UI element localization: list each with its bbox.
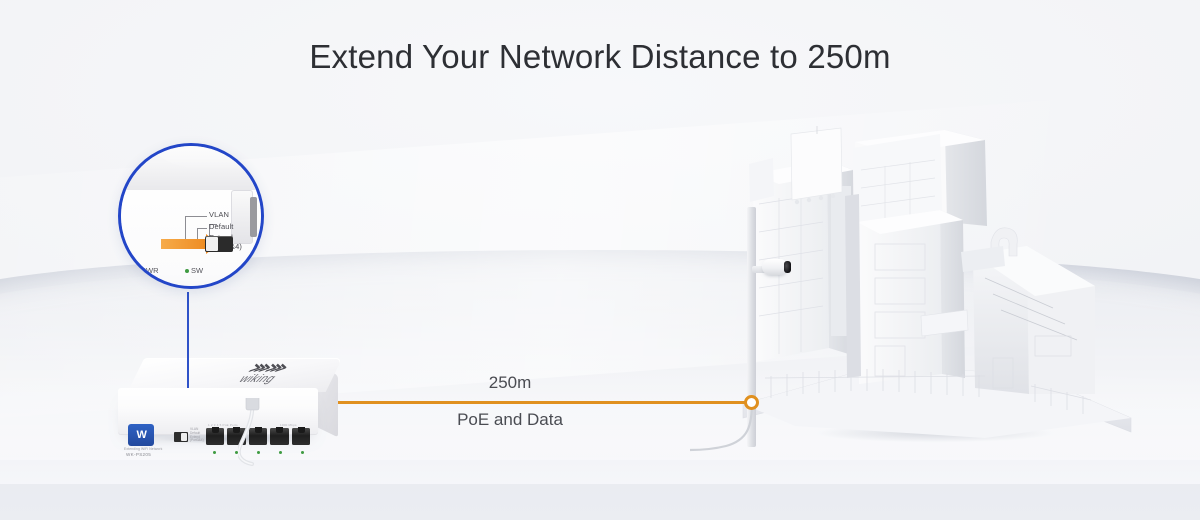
closeup-label-default: Default xyxy=(209,222,233,232)
brand-name-label: wiking xyxy=(214,373,302,385)
city-block-3d-render xyxy=(735,126,1135,456)
closeup-label-vlan: VLAN xyxy=(209,210,229,220)
badge-subtitle: Extending WiFi Network xyxy=(124,447,160,451)
device-top-panel: ⋙⋙ wiking xyxy=(128,358,343,392)
link-distance-label: 250m xyxy=(420,373,600,393)
pointer-arrow-icon xyxy=(161,239,207,249)
device-front-panel: W Extending WiFi Network WK-PS205 VLANDe… xyxy=(118,388,318,434)
port-led xyxy=(257,451,260,454)
led-label-pwr: PWR xyxy=(141,266,159,275)
led-dot-icon xyxy=(185,269,189,273)
vlan-dip-switch-closeup[interactable]: VLAN Default Extend (Port3&4) PWR SW xyxy=(118,143,264,289)
link-endpoint-camera xyxy=(744,395,759,410)
port-led xyxy=(279,451,282,454)
led-indicator-sw: SW xyxy=(185,266,203,275)
vlan-dip-switch-caption: VLANDefaultExtend(Port3&4) xyxy=(190,428,204,443)
brand-chevron-icon: ⋙⋙ xyxy=(225,362,312,373)
leader-line xyxy=(185,216,207,217)
closeup-port xyxy=(231,190,253,244)
illustration-canvas: Extend Your Network Distance to 250m xyxy=(0,0,1200,520)
rj45-port[interactable] xyxy=(292,428,310,445)
magnifier-connector-line xyxy=(187,292,189,388)
closeup-dip-switch[interactable] xyxy=(205,236,233,252)
link-caption-label: PoE and Data xyxy=(400,410,620,430)
camera-lens xyxy=(784,261,791,273)
device-top-branding: ⋙⋙ wiking xyxy=(214,362,312,385)
led-dot-icon xyxy=(135,269,139,273)
led-label-sw: SW xyxy=(191,266,203,275)
device-model-label: WK-PS205 xyxy=(126,452,151,457)
rj45-port[interactable] xyxy=(270,428,288,445)
rj45-port[interactable] xyxy=(249,428,267,445)
port-led xyxy=(213,451,216,454)
rj45-port[interactable] xyxy=(206,428,224,445)
led-indicator-pwr: PWR xyxy=(135,266,159,275)
rj45-port-row xyxy=(206,428,310,450)
port-led xyxy=(235,451,238,454)
leader-line xyxy=(185,216,186,240)
vlan-dip-switch[interactable] xyxy=(174,432,188,442)
rj45-port[interactable] xyxy=(227,428,245,445)
leader-line xyxy=(197,228,207,229)
page-title: Extend Your Network Distance to 250m xyxy=(0,38,1200,76)
brand-badge-icon: W xyxy=(128,424,154,446)
port-led xyxy=(301,451,304,454)
pole-ground-cable xyxy=(690,400,770,460)
poe-switch-device: ⋙⋙ wiking W Extending WiFi Network WK-PS… xyxy=(118,358,334,438)
